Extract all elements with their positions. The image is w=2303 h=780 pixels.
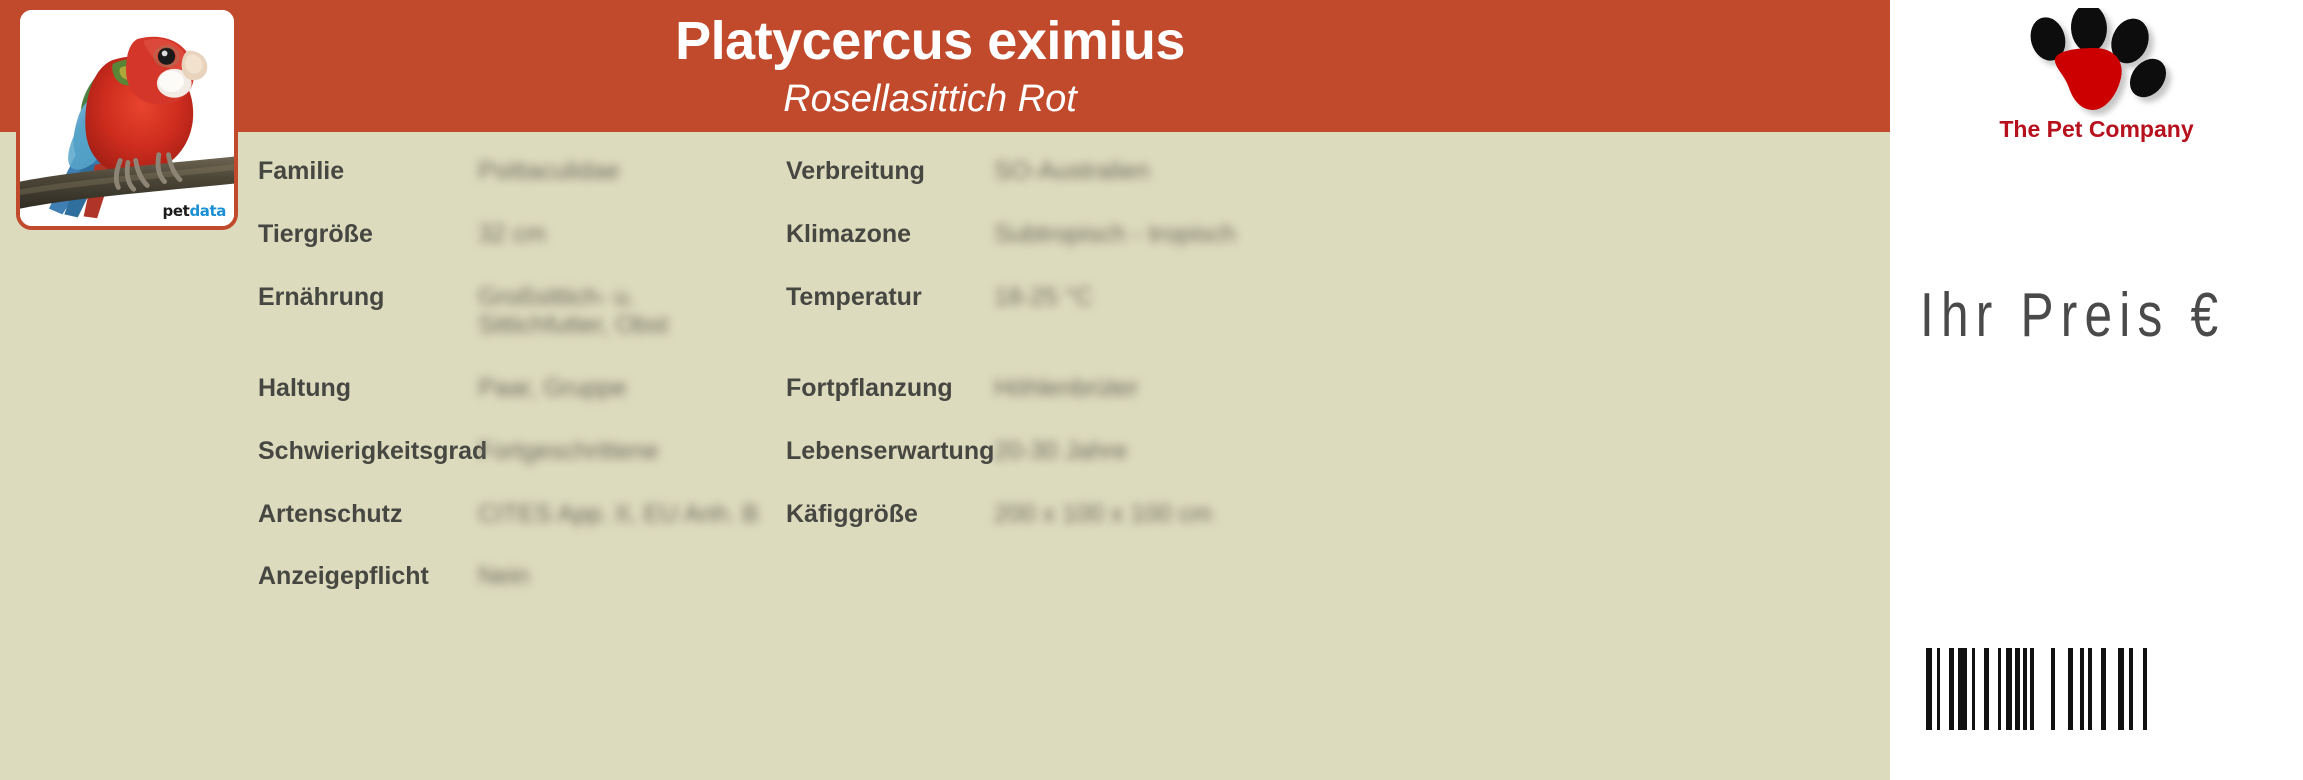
attribute-label-anzeigepflicht: Anzeigepflicht xyxy=(258,545,470,608)
price-label: Ihr Preis € xyxy=(1920,280,2225,351)
attribute-label-klimazone: Klimazone xyxy=(786,203,986,266)
attribute-value-artenschutz: CITES App. II, EU Anh. B xyxy=(478,483,778,546)
attribute-label-lebenserwartung: Lebenserwartung xyxy=(786,420,986,483)
attribute-value-lebenserwartung: 20-30 Jahre xyxy=(994,420,1414,483)
attribute-label-haltung: Haltung xyxy=(258,357,470,420)
attribute-label-schwierigkeitsgrad: Schwierigkeitsgrad xyxy=(258,420,470,483)
attribute-grid: Familie Psittaculidae Verbreitung SO-Aus… xyxy=(258,140,1858,608)
attribute-label-kaefiggroesse: Käfiggröße xyxy=(786,483,986,546)
title-block: Platycercus eximius Rosellasittich Rot xyxy=(330,8,1530,121)
barcode-gap xyxy=(2073,648,2080,730)
price-panel: The Pet Company Ihr Preis € xyxy=(1890,0,2303,780)
barcode-bar xyxy=(1958,648,1967,730)
attribute-value-anzeigepflicht: Nein xyxy=(478,545,778,608)
barcode-gap xyxy=(2133,648,2143,730)
attribute-value-ernaehrung: Großsittich- u. Sittichfutter, Obst xyxy=(478,266,738,358)
species-common-name: Rosellasittich Rot xyxy=(330,78,1530,122)
attribute-label-verbreitung: Verbreitung xyxy=(786,140,986,203)
brand-logo: The Pet Company xyxy=(1890,8,2303,158)
attribute-label-empty xyxy=(786,545,986,579)
pet-species-info-card: Platycercus eximius Rosellasittich Rot xyxy=(0,0,2303,780)
attribute-label-familie: Familie xyxy=(258,140,470,203)
species-info-panel: Platycercus eximius Rosellasittich Rot xyxy=(0,0,1890,780)
petdata-watermark-pet: pet xyxy=(163,202,190,220)
barcode-gap xyxy=(1975,648,1984,730)
attribute-value-familie: Psittaculidae xyxy=(478,140,778,203)
petdata-watermark: petdata xyxy=(163,202,226,220)
barcode-bar xyxy=(2143,648,2147,730)
animal-photo xyxy=(20,10,234,226)
attribute-label-temperatur: Temperatur xyxy=(786,266,986,329)
attribute-value-schwierigkeitsgrad: Fortgeschrittene xyxy=(478,420,778,483)
barcode-gap xyxy=(1989,648,1998,730)
attribute-value-tiergroesse: 32 cm xyxy=(478,203,778,266)
attribute-label-tiergroesse: Tiergröße xyxy=(258,203,470,266)
barcode-gap xyxy=(1940,648,1949,730)
barcode-gap xyxy=(2106,648,2118,730)
attribute-label-ernaehrung: Ernährung xyxy=(258,266,470,329)
page-title: Platycercus eximius xyxy=(330,8,1530,76)
paw-print-icon xyxy=(1890,8,2303,118)
barcode-gap xyxy=(2034,648,2051,730)
attribute-label-artenschutz: Artenschutz xyxy=(258,483,470,546)
attribute-value-temperatur: 18-25 °C xyxy=(994,266,1414,329)
animal-photo-frame: petdata xyxy=(16,6,238,230)
attribute-value-klimazone: Subtropisch - tropisch xyxy=(994,203,1414,266)
attribute-value-kaefiggroesse: 200 x 100 x 100 cm xyxy=(994,483,1414,546)
barcode xyxy=(1926,648,2147,730)
attribute-value-haltung: Paar, Gruppe xyxy=(478,357,778,420)
petdata-watermark-data: data xyxy=(189,202,226,220)
attribute-label-fortpflanzung: Fortpflanzung xyxy=(786,357,986,420)
attribute-value-empty xyxy=(994,545,1414,579)
barcode-gap xyxy=(2055,648,2068,730)
attribute-value-verbreitung: SO-Australien xyxy=(994,140,1414,203)
brand-name: The Pet Company xyxy=(1890,116,2303,143)
barcode-gap xyxy=(2092,648,2101,730)
attribute-value-fortpflanzung: Höhlenbrüter xyxy=(994,357,1414,420)
